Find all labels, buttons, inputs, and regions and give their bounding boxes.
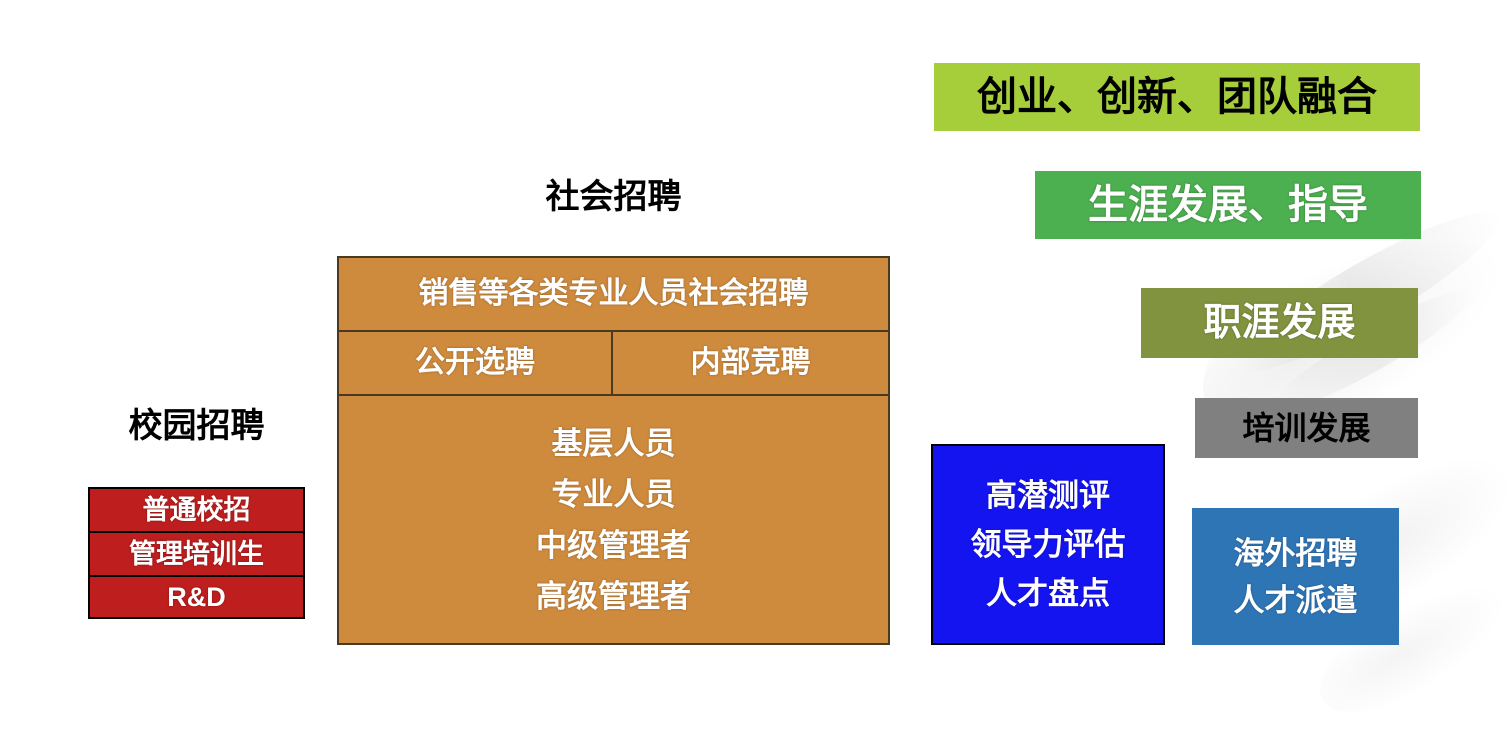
- assessment-item-leadership: 领导力评估: [971, 529, 1126, 560]
- slide-canvas: 校园招聘 普通校招 管理培训生 R&D 社会招聘 销售等各类专业人员社会招聘 公…: [0, 0, 1508, 752]
- campus-item-management-trainee[interactable]: 管理培训生: [88, 531, 305, 575]
- campus-recruitment-heading: 校园招聘: [88, 409, 305, 443]
- table-row: 公开选聘 内部竞聘: [339, 332, 888, 396]
- stair-block-career-development-guidance[interactable]: 生涯发展、指导: [1035, 171, 1421, 239]
- campus-item-rnd[interactable]: R&D: [88, 575, 305, 619]
- assessment-box[interactable]: 高潜测评 领导力评估 人才盘点: [931, 444, 1165, 645]
- social-tier-professional: 专业人员: [552, 479, 676, 510]
- table-row: 基层人员 专业人员 中级管理者 高级管理者: [339, 396, 888, 643]
- stair-block-training-development[interactable]: 培训发展: [1195, 398, 1418, 458]
- campus-item-general[interactable]: 普通校招: [88, 487, 305, 531]
- social-header-cell: 销售等各类专业人员社会招聘: [339, 258, 888, 330]
- overseas-item-recruitment: 海外招聘: [1234, 538, 1358, 569]
- stair-block-entrepreneurship[interactable]: 创业、创新、团队融合: [934, 63, 1420, 131]
- social-tier-senior-management: 高级管理者: [536, 581, 691, 612]
- assessment-item-talent-review: 人才盘点: [986, 578, 1110, 609]
- table-row: 销售等各类专业人员社会招聘: [339, 258, 888, 332]
- campus-recruitment-stack: 普通校招 管理培训生 R&D: [88, 487, 305, 619]
- overseas-box[interactable]: 海外招聘 人才派遣: [1192, 508, 1399, 645]
- social-recruitment-table: 销售等各类专业人员社会招聘 公开选聘 内部竞聘 基层人员 专业人员 中级管理者 …: [337, 256, 890, 645]
- overseas-item-dispatch: 人才派遣: [1234, 585, 1358, 616]
- social-tier-entry-level: 基层人员: [552, 428, 676, 459]
- social-recruitment-heading: 社会招聘: [337, 180, 890, 214]
- assessment-item-high-potential: 高潜测评: [986, 480, 1110, 511]
- stair-block-career-path[interactable]: 职涯发展: [1141, 288, 1418, 358]
- social-tier-middle-management: 中级管理者: [536, 530, 691, 561]
- social-channel-internal[interactable]: 内部竞聘: [613, 332, 888, 394]
- social-channel-open[interactable]: 公开选聘: [339, 332, 613, 394]
